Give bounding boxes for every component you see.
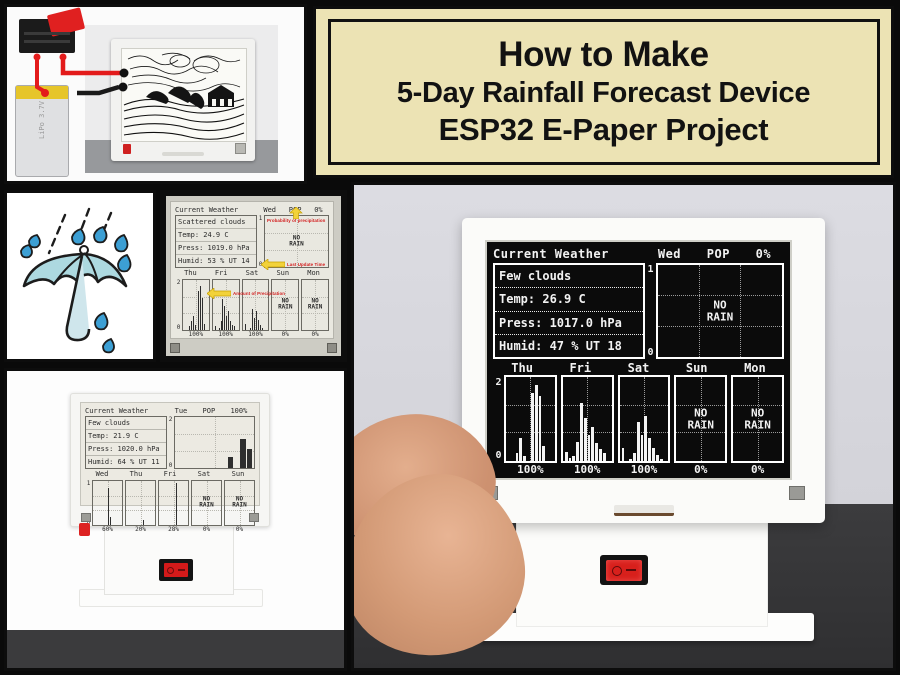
bar-group [245, 280, 267, 330]
connector-slot [614, 505, 674, 516]
bar [599, 449, 602, 461]
bar-group [622, 377, 667, 461]
day-label: Fri [153, 470, 187, 480]
bar [644, 416, 647, 461]
temperature-text: Temp: 26.9 C [495, 288, 643, 311]
epaper-screen-left-device: Current Weather Tue POP 100% Few clouds … [80, 402, 260, 506]
day-label: Fri [206, 269, 237, 279]
power-led [79, 523, 90, 536]
pop-percent: 0% [674, 463, 727, 477]
title-line-2: 5-Day Rainfall Forecast Device [397, 77, 810, 110]
forecast-pop-row: 100%100%100%0%0% [175, 331, 329, 341]
today-axis-min: 0 [169, 462, 173, 469]
bar [110, 517, 111, 525]
pressure-text: Press: 1020.0 hPa [86, 443, 166, 456]
battery-tab-strip [16, 86, 68, 99]
pop-percent: 0% [271, 331, 299, 341]
pop-percent: 100% [561, 463, 614, 477]
rain-umbrella-panel [4, 190, 156, 362]
epaper-landscape-artwork [121, 48, 247, 142]
day-label: Sun [267, 269, 298, 279]
bar [523, 456, 526, 461]
forecast-day-cell [92, 480, 123, 526]
wiring-diagram-panel: LiPo 3.7V [4, 4, 307, 184]
bar [245, 324, 246, 330]
device-photo-panel-left: Current Weather Tue POP 100% Few clouds … [4, 368, 347, 671]
screw-right [327, 343, 337, 353]
bar [221, 321, 222, 330]
screw-right [249, 513, 259, 522]
pop-percent: 100% [504, 463, 557, 477]
pop-label: POP [203, 407, 216, 415]
title-line-3: ESP32 E-Paper Project [439, 112, 769, 148]
forecast-day-cell [158, 480, 189, 526]
screenshot-canvas: How to Make 5-Day Rainfall Forecast Devi… [0, 0, 900, 675]
bar [641, 435, 644, 461]
bar [195, 325, 196, 330]
bar [256, 311, 257, 330]
temperature-text: Temp: 21.9 C [86, 430, 166, 443]
today-label: Wed [658, 247, 681, 261]
bar [222, 299, 223, 330]
bar [576, 442, 579, 461]
bar [189, 326, 190, 330]
pop-percent: 0% [301, 331, 329, 341]
day-label: Sat [609, 361, 667, 375]
power-led [123, 144, 131, 154]
today-axis: 2 0 [167, 416, 174, 469]
screw-left [170, 343, 180, 353]
bar [584, 418, 587, 461]
pressure-text: Press: 1017.0 hPa [495, 312, 643, 335]
bar [595, 443, 598, 461]
bar [215, 326, 216, 330]
day-label: Mon [298, 269, 329, 279]
pop-percent: 0% [731, 463, 784, 477]
today-axis-max: 1 [647, 264, 653, 275]
bar [660, 459, 663, 461]
bar-group [565, 377, 610, 461]
forecast-day-cell: NORAIN [271, 279, 299, 331]
bar [204, 324, 205, 330]
bar [240, 439, 245, 468]
forecast-axis-max: 2 [495, 377, 501, 388]
bar [603, 453, 606, 461]
title-card-inner: How to Make 5-Day Rainfall Forecast Devi… [328, 19, 880, 165]
rocker-switch-module[interactable] [19, 19, 75, 53]
bar [230, 321, 231, 330]
grid-line-horizontal [733, 432, 782, 433]
bar [176, 483, 177, 525]
forecast-day-cell [242, 279, 270, 331]
pressure-text: Press: 1019.0 hPa [176, 242, 256, 255]
no-rain-text: NORAIN [272, 299, 298, 312]
bar-group [177, 417, 252, 468]
annotation-arrow-left-icon [207, 288, 231, 299]
forecast-day-cell [504, 375, 557, 463]
day-label: Sat [187, 470, 221, 480]
bar [262, 328, 263, 331]
current-conditions-box: Scattered clouds Temp: 24.9 C Press: 101… [175, 215, 257, 268]
forecast-chart-cells: NORAINNORAIN [92, 480, 255, 526]
forecast-axis-max: 2 [177, 279, 181, 286]
annotation-update-time-text: Last Update Time [287, 262, 325, 267]
bar [198, 291, 199, 330]
bar [648, 438, 651, 461]
bar [656, 455, 659, 461]
forecast-day-labels: Thu Fri Sat Sun Mon [175, 269, 329, 279]
bar [531, 393, 534, 461]
bar [191, 321, 192, 330]
bar [258, 320, 259, 330]
forecast-day-cell [125, 480, 156, 526]
screw-right [789, 486, 805, 500]
day-label: Thu [175, 269, 206, 279]
bar [224, 306, 225, 330]
forecast-chart-cells: NORAINNORAIN [182, 279, 329, 331]
today-axis: 1 0 [645, 263, 656, 359]
humidity-text: Humid: 64 % UT 11 [86, 456, 166, 468]
condition-text: Few clouds [86, 417, 166, 430]
condition-text: Scattered clouds [176, 216, 256, 229]
bar [516, 453, 519, 461]
today-axis-max: 1 [259, 215, 263, 222]
current-conditions-box: Few clouds Temp: 21.9 C Press: 1020.0 hP… [85, 416, 167, 469]
bar [588, 435, 591, 461]
pop-label: POP [707, 247, 730, 261]
bar [580, 403, 583, 461]
forecast-axis: 2 0 [493, 375, 504, 463]
bar [228, 457, 233, 468]
today-label: Wed [263, 206, 276, 214]
today-axis-max: 2 [169, 416, 173, 423]
pop-percent: 0% [224, 526, 255, 536]
bar [193, 316, 194, 330]
epaper-device [111, 39, 255, 161]
forecast-pop-row: 60%20%28%0%0% [85, 526, 255, 536]
day-label: Sat [237, 269, 268, 279]
grid-line-horizontal [676, 432, 725, 433]
annotation-arrow-up-icon [289, 207, 303, 219]
bar-group [128, 481, 153, 525]
grid-line-horizontal [272, 313, 298, 314]
title-card: How to Make 5-Day Rainfall Forecast Devi… [313, 6, 894, 178]
bar [202, 298, 203, 331]
forecast-day-cell: NORAIN [731, 375, 784, 463]
epaper-screen-annotated: Current Weather Wed POP 0% Scattered clo… [170, 201, 334, 339]
day-label: Fri [551, 361, 609, 375]
grid-line-horizontal [302, 313, 328, 314]
switch-body-line [24, 32, 70, 35]
bar [250, 328, 251, 331]
battery-label: LiPo 3.7V [38, 101, 46, 139]
bar [652, 448, 655, 461]
bar [535, 385, 538, 461]
humidity-text: Humid: 47 % UT 18 [495, 335, 643, 357]
pop-value: 0% [314, 206, 322, 214]
bar [260, 325, 261, 330]
pop-percent: 28% [158, 526, 189, 536]
pop-percent: 100% [212, 331, 240, 341]
day-label: Thu [119, 470, 153, 480]
bar [629, 459, 632, 461]
bar [226, 316, 227, 330]
today-no-rain-text: NO RAIN [658, 299, 782, 322]
annotation-precip-amount-text: Amount of Precipitation [233, 291, 285, 296]
forecast-day-labels: Thu Fri Sat Sun Mon [493, 361, 784, 375]
grid-line-horizontal [192, 510, 221, 511]
title-line-1: How to Make [498, 35, 709, 75]
screw-left [81, 513, 91, 522]
bar-group [185, 280, 207, 330]
switch-body-line [24, 40, 70, 43]
forecast-day-labels: Wed Thu Fri Sat Sun [85, 470, 255, 480]
forecast-axis-max: 1 [87, 480, 91, 487]
annotated-device-photo: Current Weather Wed POP 0% Scattered clo… [166, 196, 341, 356]
no-rain-text: NORAIN [225, 497, 254, 510]
table-surface [7, 630, 344, 668]
today-axis-min: 0 [647, 347, 653, 358]
device-head: Current Weather Tue POP 100% Few clouds … [70, 393, 270, 527]
current-weather-heading: Current Weather [493, 247, 645, 261]
lipo-battery: LiPo 3.7V [15, 85, 69, 177]
device-head: Current Weather Wed POP 0% Few clouds Te… [462, 218, 825, 523]
bar [542, 446, 545, 461]
humidity-text: Humid: 53 % UT 14 [176, 255, 256, 267]
today-chart-cell: NO RAIN [656, 263, 784, 359]
no-rain-text: NORAIN [733, 407, 782, 430]
forecast-pop-row: 100%100%100%0%0% [493, 463, 784, 477]
bar [232, 325, 233, 330]
bar [228, 311, 229, 330]
bar [633, 453, 636, 461]
bar-group [161, 481, 186, 525]
bar [572, 456, 575, 461]
pop-percent: 0% [191, 526, 222, 536]
epaper-device-photo [85, 25, 278, 173]
forecast-day-cell [212, 279, 240, 331]
bar-group [95, 481, 120, 525]
pop-percent: 60% [92, 526, 123, 536]
no-rain-text: NORAIN [192, 497, 221, 510]
day-label: Thu [493, 361, 551, 375]
forecast-day-cell: NORAIN [301, 279, 329, 331]
bar [254, 318, 255, 331]
current-weather-heading: Current Weather [175, 206, 257, 214]
pop-percent: 20% [125, 526, 156, 536]
forecast-day-cell [618, 375, 671, 463]
current-weather-heading: Current Weather [85, 407, 167, 415]
forecast-axis: 2 0 [175, 279, 182, 331]
today-no-rain-text: NORAIN [265, 235, 328, 248]
bar [247, 449, 252, 468]
day-label: Mon [726, 361, 784, 375]
current-conditions-box: Few clouds Temp: 26.9 C Press: 1017.0 hP… [493, 263, 645, 359]
bar [622, 448, 625, 461]
power-switch[interactable] [600, 555, 648, 585]
no-rain-text: NORAIN [302, 299, 328, 312]
pop-percent: 100% [242, 331, 270, 341]
day-label: Sun [221, 470, 255, 480]
forecast-day-cell: NORAIN [191, 480, 222, 526]
landscape-engraving-icon [122, 49, 246, 141]
temperature-text: Temp: 24.9 C [176, 229, 256, 242]
forecast-day-cell [182, 279, 210, 331]
day-label: Sun [668, 361, 726, 375]
bar [252, 309, 253, 330]
bar [539, 396, 542, 461]
bar [637, 422, 640, 461]
forecast-chart-cells: NORAINNORAIN [504, 375, 784, 463]
today-label: Tue [175, 407, 188, 415]
bar-group [508, 377, 553, 461]
pop-percent: 100% [618, 463, 671, 477]
bar [591, 427, 594, 461]
annotated-display-panel: Current Weather Wed POP 0% Scattered clo… [160, 190, 347, 362]
forecast-day-cell: NORAIN [674, 375, 727, 463]
power-switch[interactable] [159, 559, 193, 581]
grid-line-horizontal [225, 510, 254, 511]
bar [234, 326, 235, 330]
epaper-screen-main: Current Weather Wed POP 0% Few clouds Te… [485, 240, 792, 480]
bar [108, 488, 109, 525]
pop-percent: 100% [182, 331, 210, 341]
bar [565, 452, 568, 461]
main-device-photo-panel: Current Weather Wed POP 0% Few clouds Te… [351, 182, 896, 671]
bar [200, 286, 201, 330]
no-rain-text: NORAIN [676, 407, 725, 430]
connector-slot [162, 152, 204, 156]
annotation-arrow-left-icon [261, 259, 285, 270]
umbrella-rain-illustration-icon [7, 193, 153, 359]
forecast-day-cell [561, 375, 614, 463]
day-label: Wed [85, 470, 119, 480]
bar [519, 438, 522, 461]
forecast-axis-min: 0 [495, 450, 501, 461]
bar [143, 520, 144, 525]
bar [219, 328, 220, 331]
reset-button[interactable] [235, 143, 246, 154]
pop-value: 100% [230, 407, 247, 415]
bar [569, 458, 572, 461]
forecast-axis-min: 0 [177, 324, 181, 331]
condition-text: Few clouds [495, 265, 643, 288]
today-chart-cell [174, 416, 255, 469]
pop-value: 0% [756, 247, 771, 261]
